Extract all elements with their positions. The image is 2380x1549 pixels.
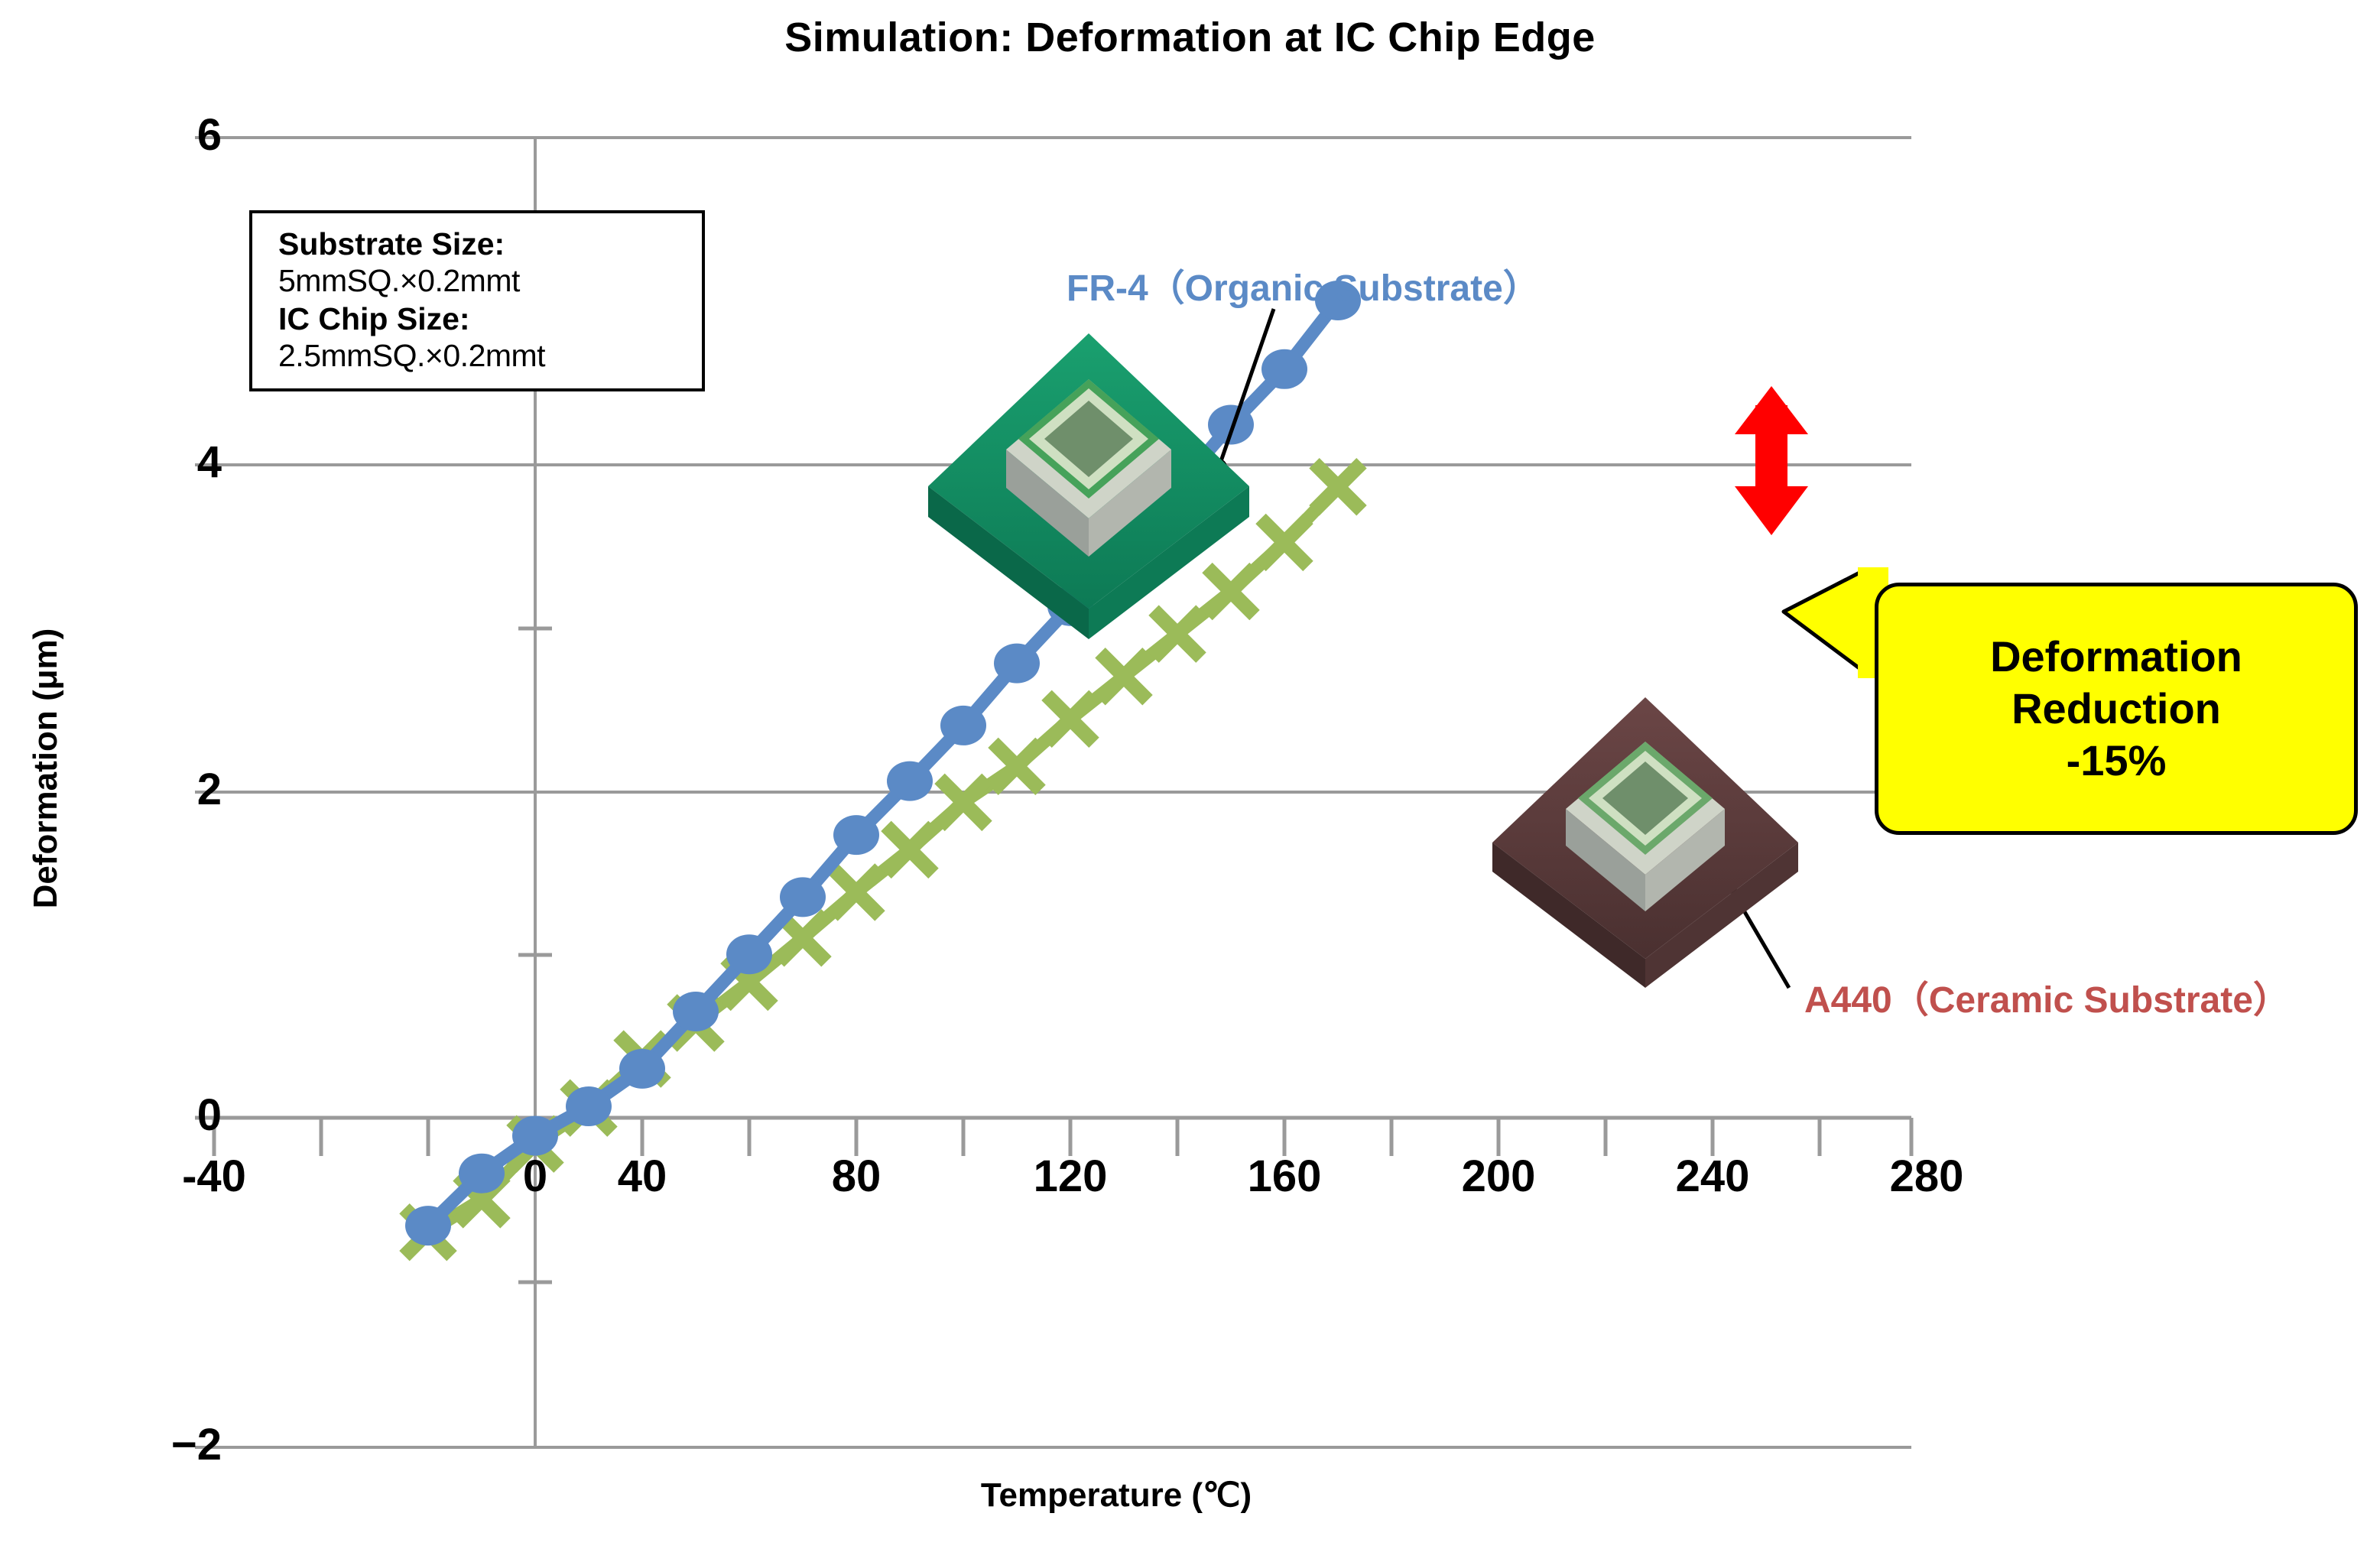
- data-point: [1261, 518, 1308, 566]
- data-point: [833, 869, 880, 916]
- x-axis-title: Temperature (℃): [581, 1476, 1651, 1515]
- x-tick-label: 80: [780, 1151, 933, 1202]
- x-tick-label: 120: [994, 1151, 1147, 1202]
- deformation-reduction-callout: Deformation Reduction -15%: [1875, 583, 2358, 835]
- y-tick-label: −2: [107, 1419, 222, 1470]
- data-point: [1047, 695, 1094, 742]
- chip-size-heading: IC Chip Size:: [278, 300, 702, 337]
- x-tick-label: 280: [1850, 1151, 2003, 1202]
- data-point: [1207, 568, 1255, 615]
- substrate-size-value: 5mmSQ.×0.2mmt: [278, 262, 702, 300]
- series-label-a440: A440（Ceramic Substrate）: [1804, 969, 2290, 1023]
- ic-chip-organic-icon: [928, 333, 1249, 639]
- y-tick-label: 0: [107, 1089, 222, 1141]
- ic-chip-ceramic-icon: [1492, 697, 1798, 988]
- data-point: [780, 877, 826, 917]
- data-point: [405, 1206, 451, 1245]
- data-point: [566, 1086, 612, 1126]
- data-point: [512, 1116, 558, 1156]
- data-point: [887, 762, 933, 801]
- data-point: [940, 706, 986, 745]
- callout-line-2: Reduction: [2011, 683, 2221, 735]
- y-axis-title: Deformation (μm): [27, 554, 65, 982]
- x-tick-label: 40: [566, 1151, 719, 1202]
- data-point: [1100, 653, 1148, 700]
- data-point: [1154, 610, 1201, 658]
- series-label-fr4: FR-4（Organic Substrate）: [1067, 258, 1540, 311]
- data-point: [726, 934, 772, 974]
- data-point: [940, 778, 987, 826]
- chip-size-value: 2.5mmSQ.×0.2mmt: [278, 337, 702, 375]
- y-tick-label: 4: [107, 437, 222, 488]
- callout-line-1: Deformation: [1990, 631, 2242, 683]
- data-point: [673, 992, 719, 1031]
- data-point: [1261, 349, 1307, 389]
- data-point: [1314, 463, 1362, 511]
- data-point: [619, 1049, 665, 1089]
- data-point: [1208, 404, 1254, 444]
- x-tick-label: 240: [1636, 1151, 1789, 1202]
- y-tick-label: 2: [107, 764, 222, 815]
- data-point: [994, 644, 1040, 684]
- deformation-gap-arrow-icon: [1735, 386, 1808, 535]
- x-tick-label: -40: [138, 1151, 291, 1202]
- x-tick-label: 200: [1422, 1151, 1575, 1202]
- callout-tail: [1784, 570, 1865, 673]
- data-point: [833, 815, 879, 855]
- y-tick-label: 6: [107, 109, 222, 161]
- info-box: Substrate Size: 5mmSQ.×0.2mmt IC Chip Si…: [249, 210, 705, 391]
- substrate-size-heading: Substrate Size:: [278, 226, 702, 262]
- data-point: [886, 826, 933, 873]
- series-markers-fr4: [405, 281, 1361, 1245]
- x-tick-label: 160: [1208, 1151, 1361, 1202]
- data-point: [993, 742, 1041, 790]
- callout-line-3: -15%: [2067, 735, 2167, 787]
